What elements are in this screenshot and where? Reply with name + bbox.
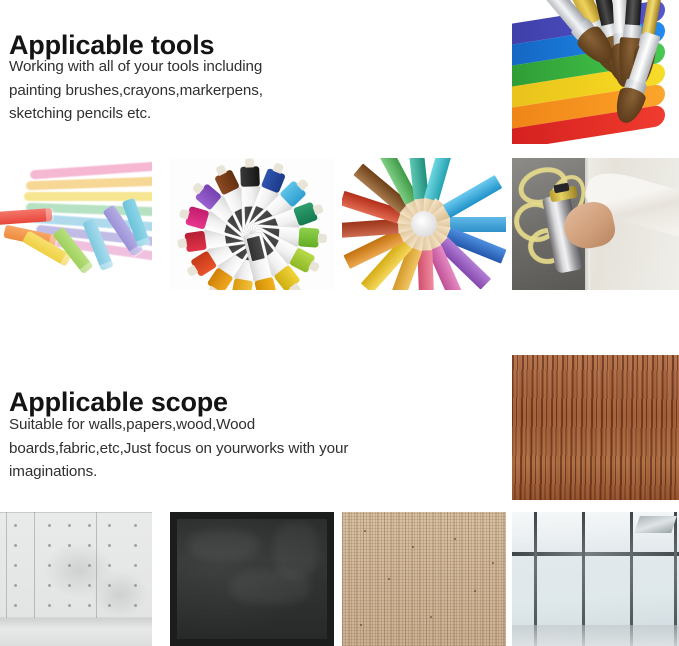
window-vent [634,516,676,533]
image-chalkboard-texture [170,512,334,646]
concrete-floor [0,618,152,646]
infographic-page: Applicable tools Working with all of you… [0,0,679,646]
body-line: boards,fabric,etc,Just focus on yourwork… [9,437,348,461]
image-burlap-fabric-texture [342,512,506,646]
image-glass-window-panels [512,512,679,646]
image-concrete-wall-texture [0,512,152,646]
body-line: imaginations. [9,460,348,484]
image-pastel-chalk-sticks [0,158,152,290]
image-paint-brushes-on-rainbow-paint [512,0,679,144]
section-body-applicable-scope: Suitable for walls,papers,wood,Wood boar… [9,413,348,484]
image-posca-marker-pens-circle [170,158,334,290]
body-line: Working with all of your tools including [9,55,263,79]
ground-reflection [512,625,679,646]
body-line: sketching pencils etc. [9,102,263,126]
body-line: painting brushes,crayons,markerpens, [9,79,263,103]
image-spray-paint-on-wall [512,158,679,290]
chalkboard-frame [170,512,334,646]
image-colored-pencils-radial [342,158,506,290]
body-line: Suitable for walls,papers,wood,Wood [9,413,348,437]
section-body-applicable-tools: Working with all of your tools including… [9,55,263,126]
pencil-tips-hub [411,211,437,237]
image-wood-grain-texture [512,355,679,500]
